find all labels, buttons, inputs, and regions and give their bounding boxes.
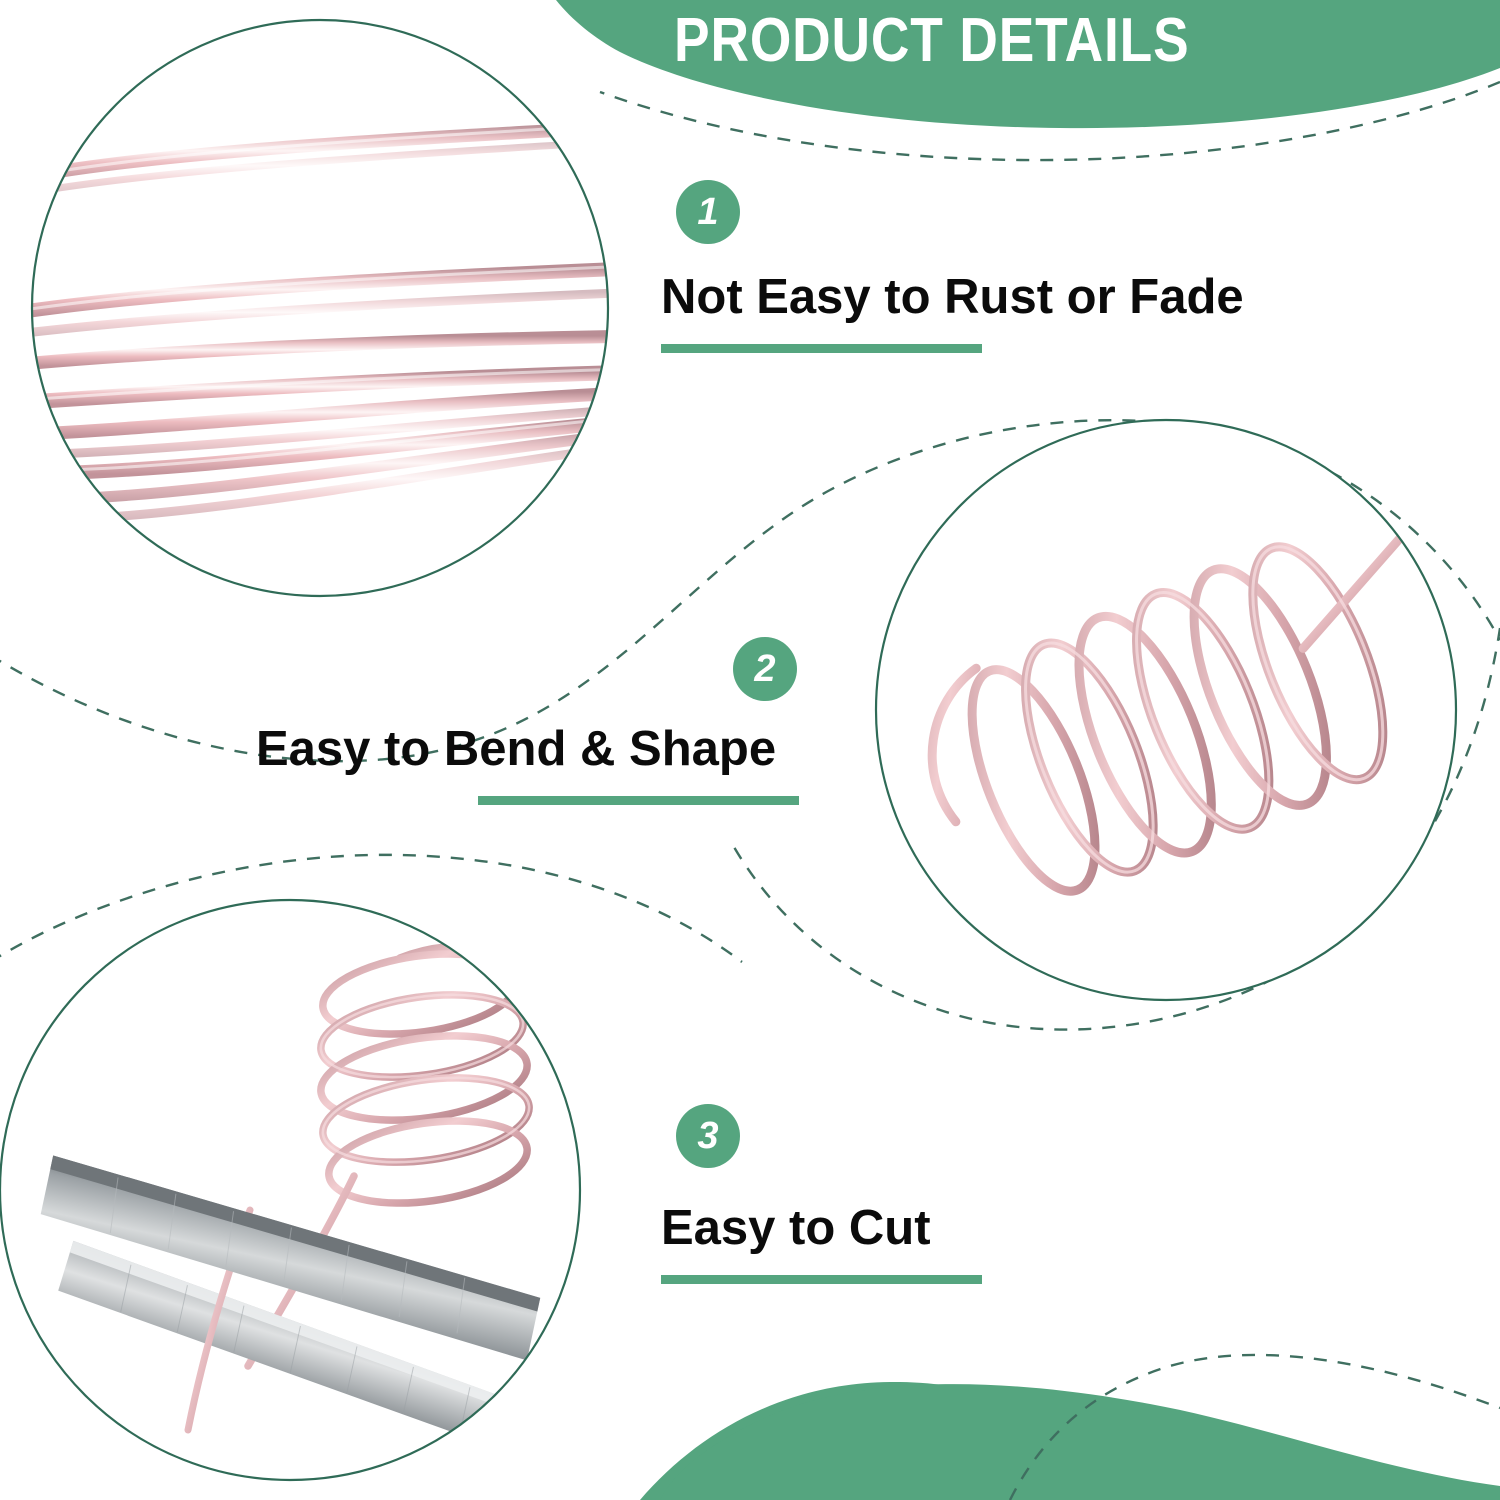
photo-wire-coil (876, 420, 1500, 1000)
photo-wire-strands (0, 20, 640, 596)
feature-heading-2: Easy to Bend & Shape (256, 724, 776, 775)
feature-heading-3: Easy to Cut (661, 1203, 931, 1254)
feature-underline-1 (661, 344, 982, 353)
number-three-badge: 3 (676, 1104, 740, 1168)
product-details-infographic: PRODUCT DETAILS 1 Not Easy to Rust or Fa… (0, 0, 1500, 1500)
photo-wire-cut (0, 900, 580, 1500)
feature-underline-3 (661, 1275, 982, 1284)
number-one-badge: 1 (676, 180, 740, 244)
page-title: PRODUCT DETAILS (648, 10, 1216, 72)
feature-underline-2 (478, 796, 799, 805)
number-two-badge: 2 (733, 637, 797, 701)
feature-heading-1: Not Easy to Rust or Fade (661, 272, 1244, 323)
